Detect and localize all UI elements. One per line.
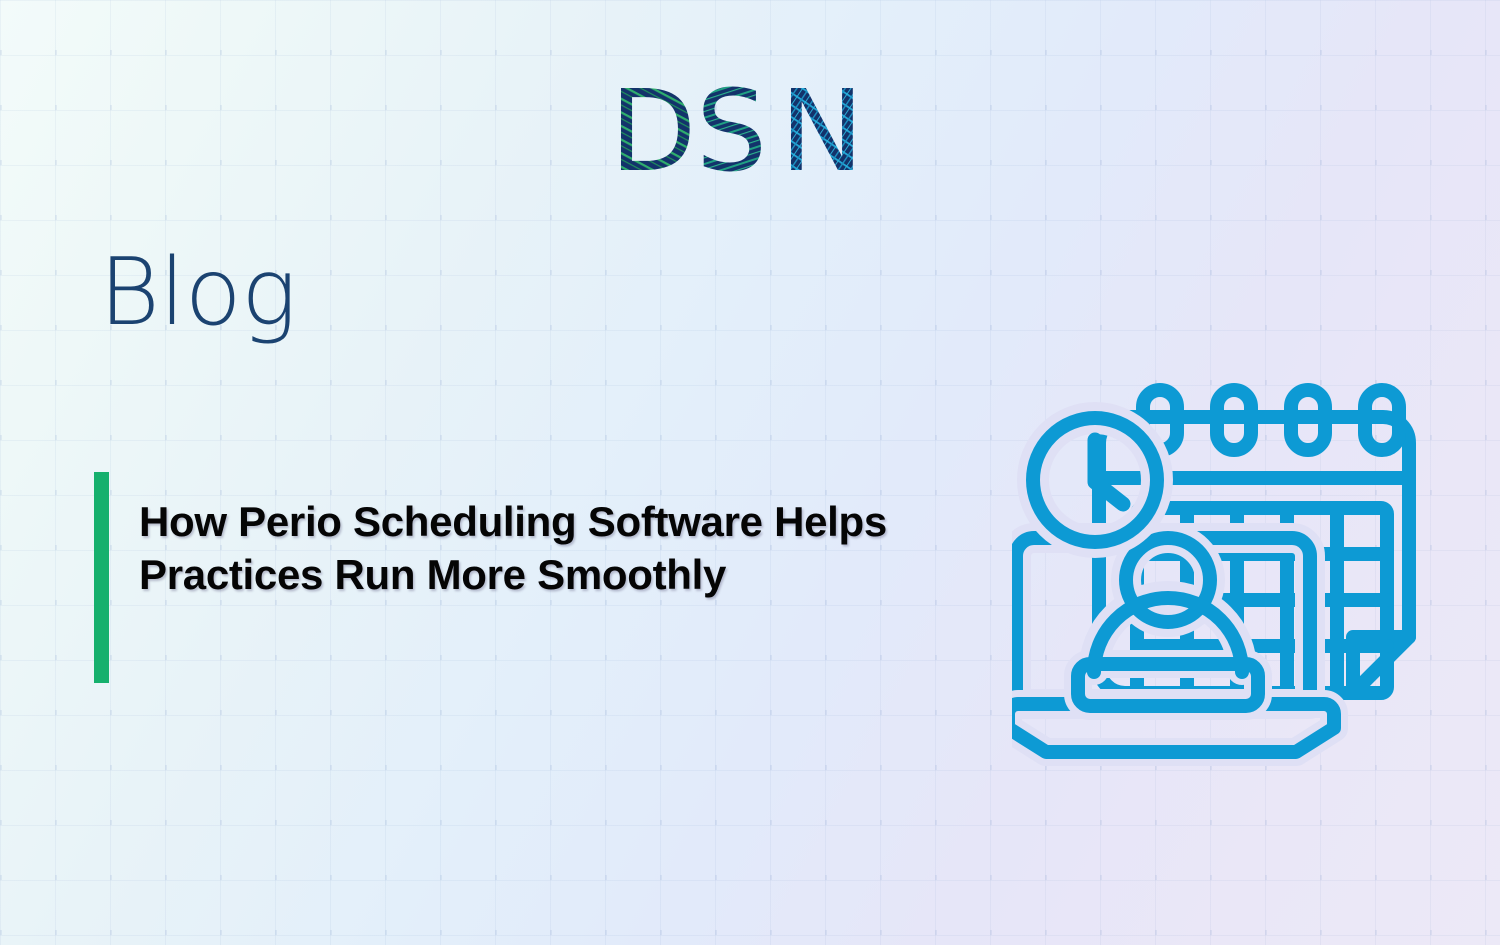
section-label-blog: Blog <box>99 246 296 339</box>
logo-letter-d: D <box>610 78 698 190</box>
dsn-logo[interactable]: D S N <box>610 78 900 190</box>
blog-hero-banner: D S N Blog How Perio Scheduling Software… <box>0 0 1500 945</box>
logo-letter-n: N <box>780 78 866 190</box>
scheduling-illustration <box>1012 382 1444 767</box>
title-accent-bar <box>94 472 109 683</box>
logo-letter-s: S <box>696 78 769 190</box>
page-title: How Perio Scheduling Software Helps Prac… <box>139 496 1019 601</box>
